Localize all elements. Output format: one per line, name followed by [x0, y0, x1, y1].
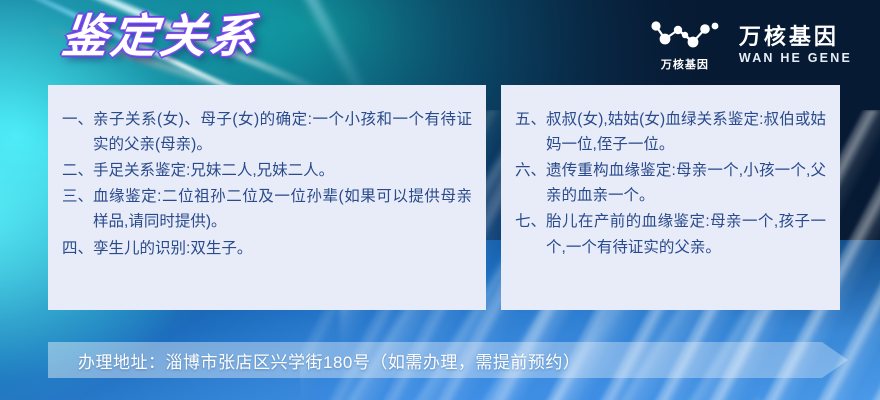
list-item-text: 亲子关系(女)、母子(女)的确定:一个小孩和一个有待证实的父亲(母亲)。 [93, 107, 472, 157]
logo-mark-label: 万核基因 [661, 56, 709, 72]
list-item-marker: 七、 [515, 209, 546, 234]
list-item-text: 胎儿在产前的血缘鉴定:母亲一个,孩子一个,一个有待证实的父亲。 [546, 209, 826, 259]
list-item: 七、 胎儿在产前的血缘鉴定:母亲一个,孩子一个,一个有待证实的父亲。 [515, 209, 826, 259]
logo-mark: 万核基因 [649, 18, 721, 72]
list-item-marker: 三、 [62, 184, 93, 209]
poster-canvas: 鉴定关系 [0, 0, 880, 400]
list-item-text: 叔叔(女),姑姑(女)血绿关系鉴定:叔伯或姑妈一位,侄子一位。 [546, 107, 826, 157]
brand-logo: 万核基因 万核基因 WAN HE GENE [649, 18, 852, 72]
list-item-marker: 二、 [62, 158, 93, 183]
list-item-marker: 四、 [62, 236, 93, 261]
list-item-marker: 六、 [515, 158, 546, 183]
list-item-marker: 一、 [62, 107, 93, 132]
list-item: 四、 孪生儿的识别:双生子。 [62, 236, 472, 261]
content-panels: 一、 亲子关系(女)、母子(女)的确定:一个小孩和一个有待证实的父亲(母亲)。 … [48, 85, 840, 310]
list-item-text: 孪生儿的识别:双生子。 [93, 236, 472, 261]
page-title: 鉴定关系 [59, 8, 261, 66]
footer-address-text: 办理地址：淄博市张店区兴学街180号（如需办理，需提前预约） [78, 342, 580, 378]
list-item: 五、 叔叔(女),姑姑(女)血绿关系鉴定:叔伯或姑妈一位,侄子一位。 [515, 107, 826, 157]
list-item: 二、 手足关系鉴定:兄妹二人,兄妹二人。 [62, 158, 472, 183]
footer-address-bar: 办理地址：淄博市张店区兴学街180号（如需办理，需提前预约） [48, 342, 848, 378]
molecule-nodes-icon [649, 18, 721, 52]
list-item: 三、 血缘鉴定:二位祖孙二位及一位孙辈(如果可以提供母亲样品,请同时提供)。 [62, 184, 472, 234]
brand-name-en: WAN HE GENE [739, 52, 852, 66]
list-item-text: 遗传重构血缘鉴定:母亲一个,小孩一个,父亲的血亲一个。 [546, 158, 826, 208]
list-item-marker: 五、 [515, 107, 546, 132]
panel-right: 五、 叔叔(女),姑姑(女)血绿关系鉴定:叔伯或姑妈一位,侄子一位。 六、 遗传… [501, 85, 840, 310]
list-item-text: 手足关系鉴定:兄妹二人,兄妹二人。 [93, 158, 472, 183]
list-item: 六、 遗传重构血缘鉴定:母亲一个,小孩一个,父亲的血亲一个。 [515, 158, 826, 208]
list-item-text: 血缘鉴定:二位祖孙二位及一位孙辈(如果可以提供母亲样品,请同时提供)。 [93, 184, 472, 234]
panel-left: 一、 亲子关系(女)、母子(女)的确定:一个小孩和一个有待证实的父亲(母亲)。 … [48, 85, 486, 310]
brand-name-cn: 万核基因 [739, 24, 839, 49]
list-item: 一、 亲子关系(女)、母子(女)的确定:一个小孩和一个有待证实的父亲(母亲)。 [62, 107, 472, 157]
brand-wordmark: 万核基因 WAN HE GENE [739, 24, 852, 65]
